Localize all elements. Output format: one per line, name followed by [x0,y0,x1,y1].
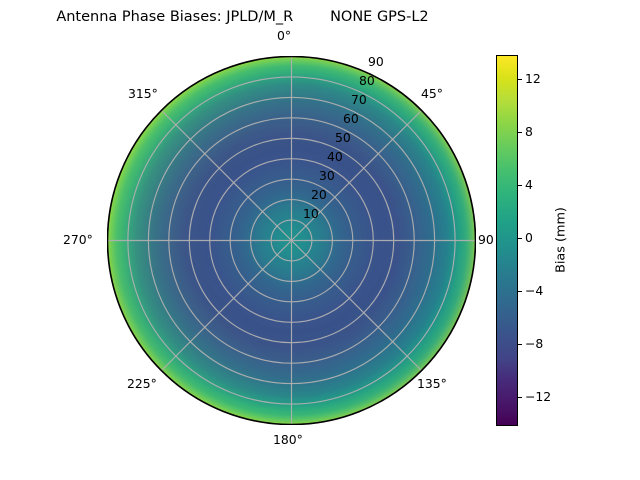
colorbar-tick-0 [518,238,522,239]
radial-tick-60: 60 [343,113,359,125]
colorbar-tick-m4 [518,291,522,292]
angular-tick-45: 45° [421,88,443,100]
colorbar-tick-12 [518,79,522,80]
angular-tick-90: 90 [478,234,494,246]
radial-tick-40: 40 [327,151,343,163]
colorbar-ticklabel-4: 4 [525,179,533,191]
angular-tick-270: 270° [63,234,93,246]
angular-tick-225: 225° [127,378,157,390]
radial-tick-20: 20 [311,189,327,201]
radial-tick-10: 10 [303,208,319,220]
colorbar-ticklabel-8: 8 [525,126,533,138]
colorbar-tick-m8 [518,344,522,345]
angular-tick-0: 0° [277,30,291,42]
angular-tick-180: 180° [273,434,303,446]
figure-canvas: Antenna Phase Biases: JPLD/M_R NONE GPS-… [0,0,640,480]
angular-tick-135: 135° [417,378,447,390]
colorbar-axis-label: Bias (mm) [554,207,569,273]
radial-tick-80: 80 [359,75,375,87]
colorbar-ticklabel-m4: −4 [525,285,543,297]
colorbar-ticklabel-m12: −12 [525,391,551,403]
colorbar-ticklabel-m8: −8 [525,338,543,350]
radial-tick-30: 30 [319,170,335,182]
radial-tick-70: 70 [351,94,367,106]
colorbar-ticklabel-0: 0 [525,232,533,244]
colorbar-tick-m12 [518,397,522,398]
polar-grid-spokes [108,57,476,425]
plot-title: Antenna Phase Biases: JPLD/M_R NONE GPS-… [0,9,485,25]
polar-heatmap [107,56,476,425]
radial-tick-90: 90 [368,56,384,68]
angular-tick-315: 315° [128,88,158,100]
colorbar-gradient [496,55,518,426]
colorbar-tick-8 [518,132,522,133]
radial-tick-50: 50 [335,132,351,144]
colorbar-tick-4 [518,185,522,186]
colorbar-ticklabel-12: 12 [525,73,541,85]
polar-axes[interactable]: 0° 45° 90 135° 180° 225° 270° 315° 10 20… [107,56,476,425]
colorbar[interactable]: −12 −8 −4 0 4 8 12 [496,55,518,426]
